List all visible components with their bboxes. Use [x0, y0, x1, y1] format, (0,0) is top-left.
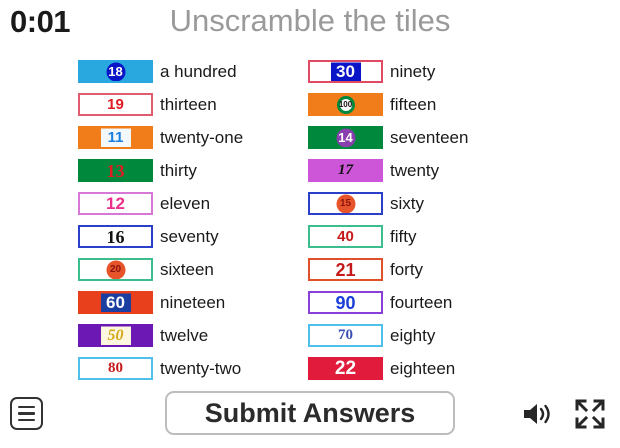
tile-number: 100 [339, 101, 352, 109]
number-tile[interactable]: 18 [78, 60, 153, 83]
tile-word-label[interactable]: forty [390, 261, 423, 278]
tile-word-label[interactable]: seventy [160, 228, 219, 245]
number-tile[interactable]: 40 [308, 225, 383, 248]
tile-word-label[interactable]: thirteen [160, 96, 217, 113]
fullscreen-expand-icon[interactable] [574, 398, 606, 430]
tile-row: 40fifty [308, 220, 558, 253]
tile-row: 22eighteen [308, 352, 558, 385]
tile-number: 14 [338, 131, 352, 144]
tile-number: 11 [108, 130, 124, 145]
speaker-on-icon[interactable] [521, 400, 553, 428]
menu-line [18, 406, 35, 409]
tile-number: 12 [106, 195, 125, 212]
tile-number: 40 [337, 229, 354, 244]
tile-row: 60nineteen [78, 286, 328, 319]
tile-word-label[interactable]: fifteen [390, 96, 436, 113]
tile-number: 80 [108, 361, 123, 376]
tile-word-label[interactable]: eleven [160, 195, 210, 212]
number-tile[interactable]: 20 [78, 258, 153, 281]
tile-board: 18a hundred19thirteen11twenty-one13thirt… [0, 55, 620, 385]
number-tile[interactable]: 14 [308, 126, 383, 149]
tile-row: 12eleven [78, 187, 328, 220]
tile-number: 20 [110, 265, 121, 275]
number-tile[interactable]: 90 [308, 291, 383, 314]
tile-row: 18a hundred [78, 55, 328, 88]
tile-number: 70 [338, 328, 353, 343]
tile-number: 15 [340, 199, 351, 209]
tile-row: 15sixty [308, 187, 558, 220]
tile-word-label[interactable]: twenty [390, 162, 439, 179]
tile-row: 13thirty [78, 154, 328, 187]
hamburger-menu-icon[interactable] [10, 397, 43, 430]
number-tile[interactable]: 100 [308, 93, 383, 116]
tile-column-left: 18a hundred19thirteen11twenty-one13thirt… [78, 55, 328, 385]
menu-line [18, 419, 35, 422]
tile-number: 19 [107, 97, 124, 112]
tile-word-label[interactable]: fourteen [390, 294, 452, 311]
tile-row: 19thirteen [78, 88, 328, 121]
tile-word-label[interactable]: nineteen [160, 294, 225, 311]
number-tile[interactable]: 80 [78, 357, 153, 380]
tile-row: 30ninety [308, 55, 558, 88]
tile-number: 22 [335, 359, 356, 378]
number-tile[interactable]: 50 [78, 324, 153, 347]
tile-column-right: 30ninety100fifteen14seventeen17twenty15s… [308, 55, 558, 385]
tile-word-label[interactable]: sixteen [160, 261, 214, 278]
tile-row: 80twenty-two [78, 352, 328, 385]
number-tile[interactable]: 60 [78, 291, 153, 314]
tile-word-label[interactable]: ninety [390, 63, 435, 80]
number-tile[interactable]: 12 [78, 192, 153, 215]
tile-row: 100fifteen [308, 88, 558, 121]
tile-number: 30 [336, 63, 355, 80]
tile-row: 14seventeen [308, 121, 558, 154]
header-bar: 0:01 Unscramble the tiles [0, 0, 620, 50]
page-title: Unscramble the tiles [0, 3, 620, 39]
tile-row: 20sixteen [78, 253, 328, 286]
tile-number: 17 [338, 163, 353, 178]
tile-number: 90 [335, 294, 355, 312]
tile-word-label[interactable]: sixty [390, 195, 424, 212]
tile-number: 60 [106, 294, 125, 311]
submit-answers-button[interactable]: Submit Answers [165, 391, 455, 435]
number-tile[interactable]: 19 [78, 93, 153, 116]
tile-word-label[interactable]: a hundred [160, 63, 237, 80]
number-tile[interactable]: 17 [308, 159, 383, 182]
number-tile[interactable]: 16 [78, 225, 153, 248]
tile-row: 21forty [308, 253, 558, 286]
tile-row: 50twelve [78, 319, 328, 352]
tile-word-label[interactable]: twenty-one [160, 129, 243, 146]
tile-row: 17twenty [308, 154, 558, 187]
number-tile[interactable]: 21 [308, 258, 383, 281]
number-tile[interactable]: 15 [308, 192, 383, 215]
tile-word-label[interactable]: twelve [160, 327, 208, 344]
number-tile[interactable]: 30 [308, 60, 383, 83]
number-tile[interactable]: 11 [78, 126, 153, 149]
tile-row: 70eighty [308, 319, 558, 352]
number-tile[interactable]: 13 [78, 159, 153, 182]
tile-row: 16seventy [78, 220, 328, 253]
tile-word-label[interactable]: fifty [390, 228, 416, 245]
tile-number: 50 [108, 328, 124, 344]
menu-line [18, 412, 35, 415]
tile-number: 13 [107, 162, 125, 180]
footer-bar: Submit Answers [0, 388, 620, 448]
tile-word-label[interactable]: eighteen [390, 360, 455, 377]
tile-row: 11twenty-one [78, 121, 328, 154]
tile-number: 21 [335, 261, 355, 279]
number-tile[interactable]: 70 [308, 324, 383, 347]
tile-number: 16 [107, 228, 125, 246]
tile-number: 18 [108, 65, 122, 78]
tile-row: 90fourteen [308, 286, 558, 319]
number-tile[interactable]: 22 [308, 357, 383, 380]
tile-word-label[interactable]: twenty-two [160, 360, 241, 377]
tile-word-label[interactable]: seventeen [390, 129, 468, 146]
tile-word-label[interactable]: thirty [160, 162, 197, 179]
tile-word-label[interactable]: eighty [390, 327, 435, 344]
